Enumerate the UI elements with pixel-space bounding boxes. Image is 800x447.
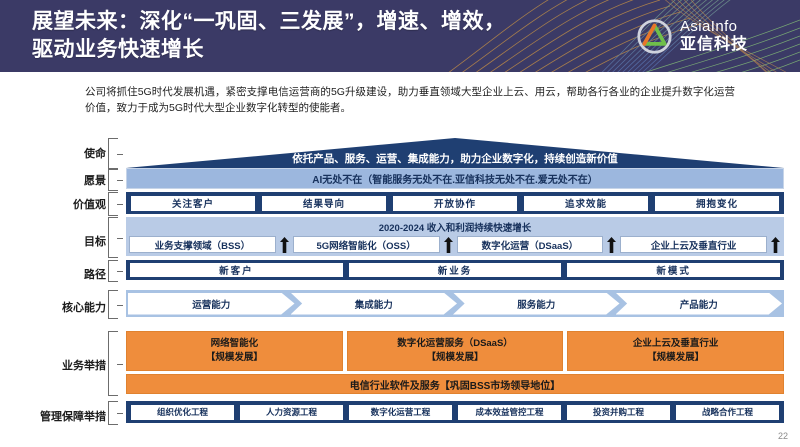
- management-item[interactable]: 组织优化工程: [130, 404, 235, 421]
- business-measure-line2: 【规模发展】: [427, 351, 484, 365]
- goals-item[interactable]: 业务支撑领域（BSS）: [129, 236, 276, 253]
- path-item[interactable]: 新模式: [566, 262, 781, 278]
- up-arrow-icon: [443, 236, 454, 253]
- label-values: 价值观: [18, 196, 106, 212]
- logo-text-en: AsiaInfo: [680, 19, 748, 34]
- label-business: 业务举措: [18, 357, 106, 373]
- goals-item[interactable]: 企业上云及垂直行业: [620, 236, 767, 253]
- mission-banner: 依托产品、服务、运营、集成能力，助力企业数字化，持续创造新价值: [126, 138, 784, 168]
- core-capability-item[interactable]: 集成能力: [291, 293, 458, 315]
- values-item[interactable]: 结果导向: [261, 195, 387, 212]
- label-management: 管理保障举措: [6, 408, 106, 424]
- values-row: 关注客户 结果导向 开放协作 追求效能 拥抱变化: [126, 192, 784, 214]
- slide-header: 展望未来：深化“一巩固、三发展”，增速、增效， 驱动业务快速增长 AsiaInf…: [0, 0, 800, 72]
- business-measures-section: 网络智能化 【规模发展】 数字化运营服务（DSaaS） 【规模发展】 企业上云及…: [126, 331, 784, 394]
- asiainfo-logo-mark-icon: [636, 18, 673, 55]
- path-item[interactable]: 新客户: [129, 262, 344, 278]
- business-measure-line1: 数字化运营服务（DSaaS）: [397, 337, 513, 351]
- path-item[interactable]: 新业务: [348, 262, 563, 278]
- brace-values: [108, 192, 118, 216]
- label-goals: 目标: [18, 233, 106, 249]
- values-item[interactable]: 拥抱变化: [654, 195, 780, 212]
- business-measure-line1: 网络智能化: [211, 337, 259, 351]
- asiainfo-logo: AsiaInfo 亚信科技: [636, 11, 786, 61]
- slide: 展望未来：深化“一巩固、三发展”，增速、增效， 驱动业务快速增长 AsiaInf…: [0, 0, 800, 447]
- brace-core: [108, 290, 118, 319]
- brace-mission: [108, 138, 118, 170]
- business-measure-box[interactable]: 数字化运营服务（DSaaS） 【规模发展】: [347, 331, 564, 371]
- core-capabilities-row: 运营能力 集成能力 服务能力 产品能力: [126, 290, 784, 317]
- business-measure-box[interactable]: 网络智能化 【规模发展】: [126, 331, 343, 371]
- management-item[interactable]: 成本效益管控工程: [457, 404, 562, 421]
- management-item[interactable]: 战略合作工程: [675, 404, 780, 421]
- values-item[interactable]: 关注客户: [130, 195, 256, 212]
- page-number: 22: [778, 431, 788, 441]
- brace-business: [108, 331, 118, 396]
- label-path: 路径: [18, 266, 106, 282]
- up-arrow-icon: [279, 236, 290, 253]
- brace-management: [108, 401, 118, 425]
- management-row: 组织优化工程 人力资源工程 数字化运营工程 成本效益管控工程 投资并购工程 战略…: [126, 401, 784, 423]
- core-capability-item[interactable]: 运营能力: [128, 293, 295, 315]
- business-measure-line2: 【规模发展】: [647, 351, 704, 365]
- label-mission: 使命: [18, 145, 106, 161]
- business-measures-footer[interactable]: 电信行业软件及服务【巩固BSS市场领导地位】: [126, 374, 784, 394]
- logo-text-cn: 亚信科技: [680, 37, 748, 53]
- management-item[interactable]: 数字化运营工程: [348, 404, 453, 421]
- management-item[interactable]: 人力资源工程: [239, 404, 344, 421]
- path-row: 新客户 新业务 新模式: [126, 260, 784, 280]
- mission-text: 依托产品、服务、运营、集成能力，助力企业数字化，持续创造新价值: [126, 151, 784, 166]
- core-capability-item[interactable]: 产品能力: [616, 293, 783, 315]
- business-measure-line2: 【规模发展】: [206, 351, 263, 365]
- values-item[interactable]: 追求效能: [523, 195, 649, 212]
- brace-vision: [108, 168, 118, 191]
- intro-paragraph: 公司将抓住5G时代发展机遇，紧密支撑电信运营商的5G升级建设，助力垂直领域大型企…: [85, 84, 735, 116]
- management-item[interactable]: 投资并购工程: [566, 404, 671, 421]
- business-measures-row: 网络智能化 【规模发展】 数字化运营服务（DSaaS） 【规模发展】 企业上云及…: [126, 331, 784, 371]
- goals-headline: 2020-2024 收入和利润持续快速增长: [129, 219, 781, 236]
- business-measure-line1: 企业上云及垂直行业: [633, 337, 719, 351]
- label-vision: 愿景: [18, 172, 106, 188]
- goals-item[interactable]: 数字化运营（DSaaS）: [457, 236, 604, 253]
- goals-row: 业务支撑领域（BSS） 5G网络智能化（OSS） 数字化运营（DSaaS） 企业…: [129, 236, 781, 253]
- goals-section: 2020-2024 收入和利润持续快速增长 业务支撑领域（BSS） 5G网络智能…: [126, 217, 784, 256]
- core-capability-item[interactable]: 服务能力: [453, 293, 620, 315]
- label-core: 核心能力: [18, 299, 106, 315]
- values-item[interactable]: 开放协作: [392, 195, 518, 212]
- brace-path: [108, 260, 118, 282]
- vision-banner: AI无处不在（智能服务无处不在.亚信科技无处不在.爱无处不在）: [126, 168, 784, 189]
- up-arrow-icon: [606, 236, 617, 253]
- goals-item[interactable]: 5G网络智能化（OSS）: [293, 236, 440, 253]
- business-measure-box[interactable]: 企业上云及垂直行业 【规模发展】: [567, 331, 784, 371]
- up-arrow-icon: [770, 236, 781, 253]
- page-title: 展望未来：深化“一巩固、三发展”，增速、增效， 驱动业务快速增长: [32, 8, 652, 64]
- brace-goals: [108, 217, 118, 258]
